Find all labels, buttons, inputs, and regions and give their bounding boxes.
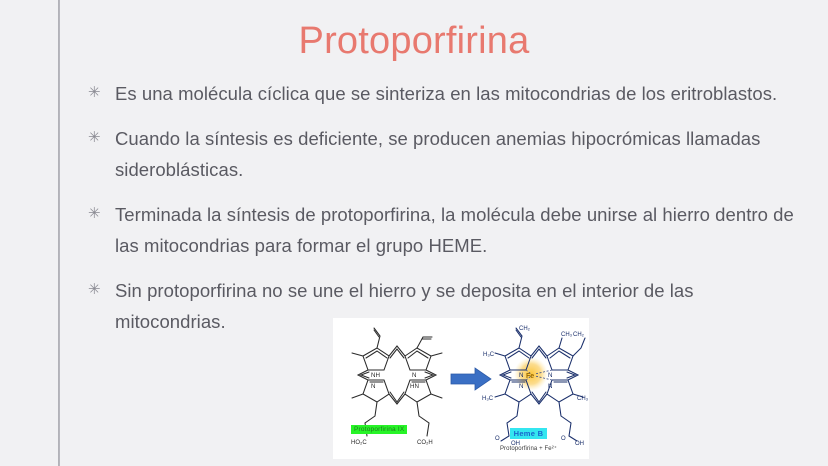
figure-sublabel-heme: Protoporfirina + Fe²⁺ (481, 445, 576, 452)
figure-label-protoporphyrin: Protoporfirina IX (351, 425, 407, 434)
atom-label-co2h: CO₂H (417, 440, 433, 446)
atom-label-ch3: CH₃ (577, 396, 589, 402)
atom-label-ho2c: HO₂C (351, 440, 367, 446)
list-item-label: Cuando la síntesis es deficiente, se pro… (115, 123, 800, 185)
list-item: ✳ Cuando la síntesis es deficiente, se p… (88, 123, 800, 185)
atom-label-n: N (548, 372, 552, 379)
list-item-label: Terminada la síntesis de protoporfirina,… (115, 199, 800, 261)
figure-label-heme: Heme B (510, 428, 548, 439)
atom-label-n: N (412, 372, 416, 379)
atom-label-ch2: CH₂ (573, 332, 585, 338)
atom-label-h3c: H₃C (483, 352, 495, 358)
figure-label-heme-group: Heme B Protoporfirina + Fe²⁺ (481, 423, 576, 452)
atom-label-nh: NH (371, 372, 380, 379)
left-gutter (0, 0, 58, 466)
protoporphyrin-heme-figure: NH N N HN HO₂C CO₂H (333, 318, 589, 459)
asterisk-bullet-icon: ✳ (88, 199, 115, 229)
atom-label-oh: OH (575, 441, 584, 447)
page-title: Protoporfirina (0, 18, 828, 64)
atom-label-ch3: CH₃ (561, 332, 573, 338)
atom-label-ch2: CH₂ (519, 326, 531, 332)
list-item: ✳ Es una molécula cíclica que se sinteri… (88, 78, 800, 109)
asterisk-bullet-icon: ✳ (88, 275, 115, 305)
left-vertical-rule (58, 0, 60, 466)
atom-label-h3c: H₃C (482, 396, 494, 402)
slide-canvas: Protoporfirina ✳ Es una molécula cíclica… (0, 0, 828, 466)
atom-label-n: N (519, 372, 523, 379)
list-item: ✳ Terminada la síntesis de protoporfirin… (88, 199, 800, 261)
atom-label-n: N (548, 383, 552, 390)
bullet-list: ✳ Es una molécula cíclica que se sinteri… (88, 78, 800, 351)
atom-label-hn: HN (410, 383, 419, 390)
list-item-label: Es una molécula cíclica que se sinteriza… (115, 78, 800, 109)
asterisk-bullet-icon: ✳ (88, 123, 115, 153)
atom-label-fe: Fe (526, 373, 534, 380)
atom-label-n: N (519, 383, 523, 390)
atom-label-n: N (371, 383, 375, 390)
asterisk-bullet-icon: ✳ (88, 78, 115, 108)
